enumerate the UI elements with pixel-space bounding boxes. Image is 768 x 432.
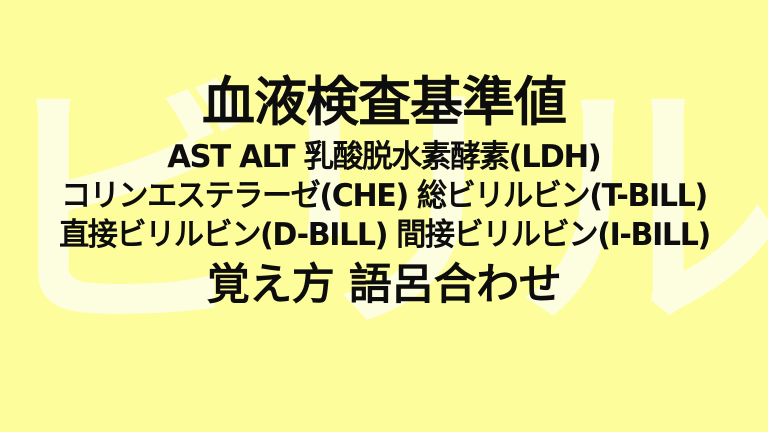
subtitle-line-3: 直接ビリルビン(D-BILL) 間接ビリルビン(I-BILL) [59, 220, 710, 251]
thumbnail-slide: 直接ビリルビン 血液検査基準値 AST ALT 乳酸脱水素酵素(LDH) コリン… [0, 0, 768, 432]
subtitle-line-1: AST ALT 乳酸脱水素酵素(LDH) [167, 142, 600, 173]
subtitle-line-2: コリンエステラーゼ(CHE) 総ビリルビン(T-BILL) [61, 181, 707, 212]
footer-tagline: 覚え方 語呂合わせ [207, 264, 561, 307]
page-title: 血液検査基準値 [202, 76, 566, 129]
text-content-block: 血液検査基準値 AST ALT 乳酸脱水素酵素(LDH) コリンエステラーゼ(C… [0, 0, 768, 432]
